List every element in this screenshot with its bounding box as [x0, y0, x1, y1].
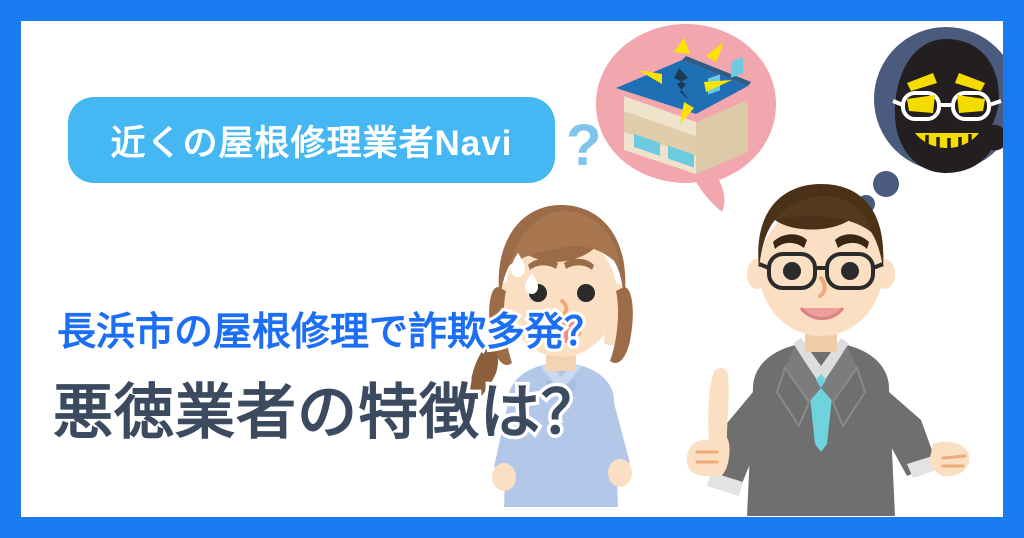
badge-question-mark: ?	[566, 117, 601, 175]
site-name-label: 近くの屋根修理業者Navi	[111, 115, 513, 166]
banner-canvas: 近くの屋根修理業者Navi ? 長浜市の屋根修理で詐欺多発？ 悪徳業者の特徴は？	[0, 0, 1024, 538]
site-name-badge[interactable]: 近くの屋根修理業者Navi	[68, 97, 555, 183]
white-content-plate: 近くの屋根修理業者Navi ? 長浜市の屋根修理で詐欺多発？ 悪徳業者の特徴は？	[21, 21, 1003, 517]
businessman-advisor	[671, 176, 971, 517]
worried-woman	[446, 191, 676, 517]
